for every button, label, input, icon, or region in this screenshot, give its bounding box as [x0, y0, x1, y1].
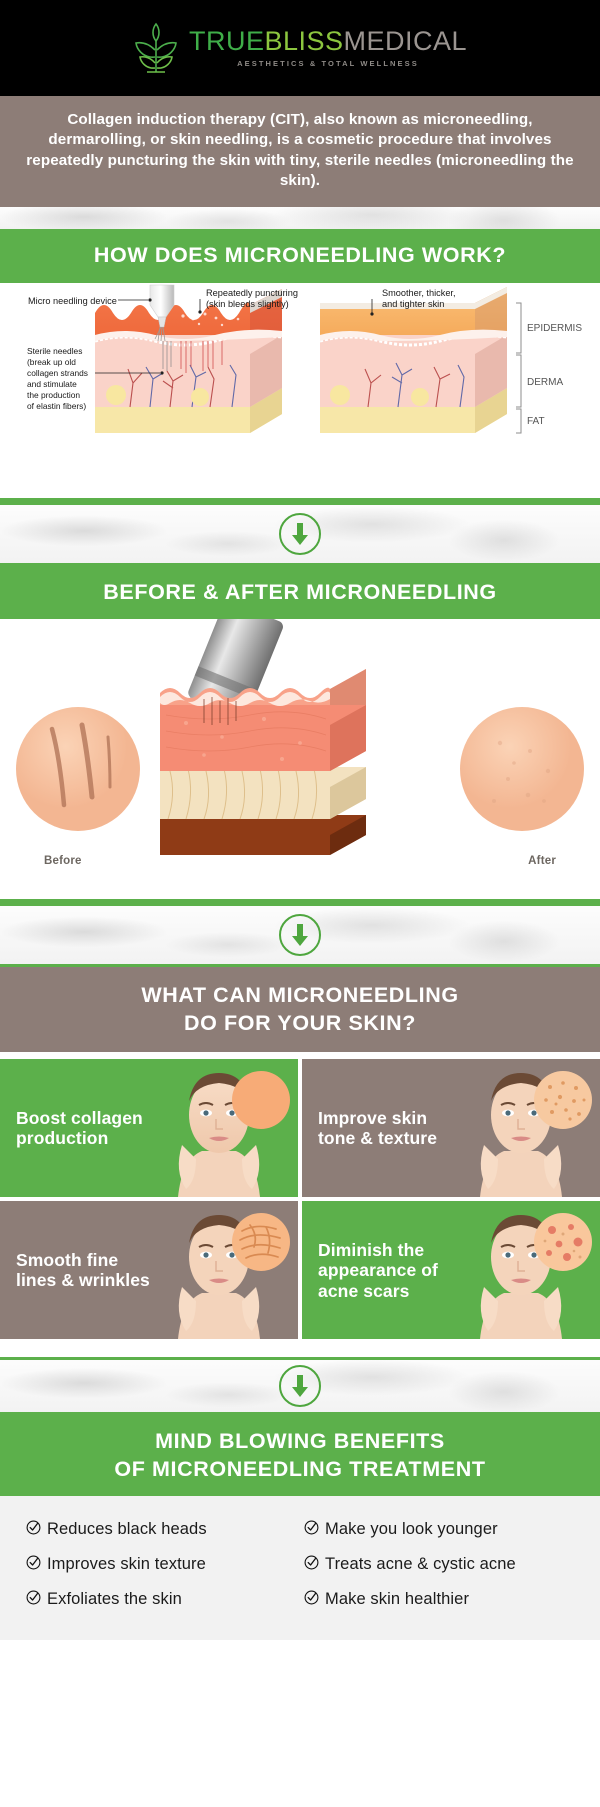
benefits-heading-line1: MIND BLOWING BENEFITS — [10, 1428, 590, 1455]
acne-skin-icon — [534, 1213, 592, 1271]
benefit-card-improve-tone[interactable]: Improve skin tone & texture — [302, 1059, 600, 1197]
label-puncturing-line1: Repeatedly puncturing — [206, 288, 298, 298]
benefit-card-label: Improve skin tone & texture — [302, 1108, 452, 1149]
label-sterile-needles-2: (break up old — [27, 357, 76, 367]
list-item: Make you look younger — [304, 1520, 574, 1540]
microneedling-pen-illustration — [160, 619, 366, 855]
brand-word-bliss: BLISS — [264, 26, 343, 56]
benefit-label: Treats acne & cystic acne — [325, 1555, 516, 1574]
benefit-label: Improves skin texture — [47, 1555, 206, 1574]
list-item: Exfoliates the skin — [26, 1590, 296, 1610]
label-fat: FAT — [527, 416, 545, 427]
brand-word-true: TRUE — [189, 26, 265, 56]
list-item: Treats acne & cystic acne — [304, 1555, 574, 1575]
leaf-plant-icon — [133, 20, 179, 76]
what-heading-line2: DO FOR YOUR SKIN? — [10, 1010, 590, 1038]
benefit-label: Reduces black heads — [47, 1520, 207, 1539]
check-circle-icon — [26, 1555, 41, 1575]
label-sterile-needles-6: of elastin fibers) — [27, 401, 86, 411]
check-circle-icon — [304, 1555, 319, 1575]
benefit-card-label: Smooth fine lines & wrinkles — [0, 1250, 150, 1291]
arrow-divider-2 — [0, 903, 600, 967]
label-result-line2: and tighter skin — [382, 299, 444, 309]
before-label: Before — [44, 855, 82, 867]
arrow-down-icon — [279, 914, 321, 956]
arrow-down-icon — [279, 513, 321, 555]
arrow-divider-1 — [0, 502, 600, 566]
label-micro-needling-device: Micro needling device — [28, 296, 117, 306]
benefits-heading-line2: OF MICRONEEDLING TREATMENT — [10, 1456, 590, 1483]
check-circle-icon — [304, 1520, 319, 1540]
check-circle-icon — [26, 1520, 41, 1540]
benefit-card-label: Diminish the appearance of acne scars — [302, 1240, 452, 1301]
after-label: After — [528, 855, 556, 867]
label-sterile-needles-3: collagen strands — [27, 368, 88, 378]
paper-divider — [0, 207, 600, 229]
arrow-divider-3 — [0, 1357, 600, 1415]
brand-word-medical: MEDICAL — [344, 26, 468, 56]
label-sterile-needles-4: and stimulate — [27, 379, 77, 389]
list-item: Make skin healthier — [304, 1590, 574, 1610]
benefits-list: Reduces black heads Make you look younge… — [0, 1496, 600, 1640]
label-result-line1: Smoother, thicker, — [382, 288, 456, 298]
section-heading-how-it-works: HOW DOES MICRONEEDLING WORK? — [0, 229, 600, 282]
check-circle-icon — [304, 1590, 319, 1610]
benefit-label: Make skin healthier — [325, 1590, 469, 1609]
before-skin-circle — [16, 707, 140, 831]
arrow-down-icon — [279, 1365, 321, 1407]
label-derma: DERMA — [527, 377, 563, 388]
benefit-label: Make you look younger — [325, 1520, 498, 1539]
benefit-cards-grid: Boost collagen production Improve skin t… — [0, 1059, 600, 1339]
benefit-card-diminish-acne-scars[interactable]: Diminish the appearance of acne scars — [302, 1201, 600, 1339]
benefit-label: Exfoliates the skin — [47, 1590, 182, 1609]
what-heading-line1: WHAT CAN MICRONEEDLING — [10, 982, 590, 1010]
benefit-card-label: Boost collagen production — [0, 1108, 150, 1149]
brand-tagline: AESTHETICS & TOTAL WELLNESS — [237, 59, 419, 68]
label-sterile-needles-5: the production — [27, 390, 80, 400]
label-sterile-needles-1: Sterile needles — [27, 346, 82, 356]
benefit-card-smooth-fine-lines[interactable]: Smooth fine lines & wrinkles — [0, 1201, 298, 1339]
benefit-card-boost-collagen[interactable]: Boost collagen production — [0, 1059, 298, 1197]
section-heading-before-after: BEFORE & AFTER MICRONEEDLING — [0, 566, 600, 619]
section-heading-what-can-do: WHAT CAN MICRONEEDLING DO FOR YOUR SKIN? — [0, 967, 600, 1053]
wrinkle-skin-icon — [232, 1213, 290, 1271]
list-item: Improves skin texture — [26, 1555, 296, 1575]
pores-skin-icon — [534, 1071, 592, 1129]
paper-divider-3 — [0, 1339, 600, 1357]
paper-divider-2 — [0, 1052, 600, 1059]
label-puncturing-line2: (skin bleeds slightly) — [206, 299, 289, 309]
section-heading-mind-blowing-benefits: MIND BLOWING BENEFITS OF MICRONEEDLING T… — [0, 1415, 600, 1495]
microneedling-mechanism-diagram: Micro needling device Repeatedly punctur… — [0, 283, 600, 498]
before-after-illustration: Before After — [0, 619, 600, 899]
label-epidermis: EPIDERMIS — [527, 323, 582, 334]
intro-paragraph: Collagen induction therapy (CIT), also k… — [0, 96, 600, 207]
brand-wordmark: TRUEBLISSMEDICAL AESTHETICS & TOTAL WELL… — [189, 28, 467, 68]
list-item: Reduces black heads — [26, 1520, 296, 1540]
brand-header: TRUEBLISSMEDICAL AESTHETICS & TOTAL WELL… — [0, 0, 600, 96]
after-skin-circle — [460, 707, 584, 831]
check-circle-icon — [26, 1590, 41, 1610]
